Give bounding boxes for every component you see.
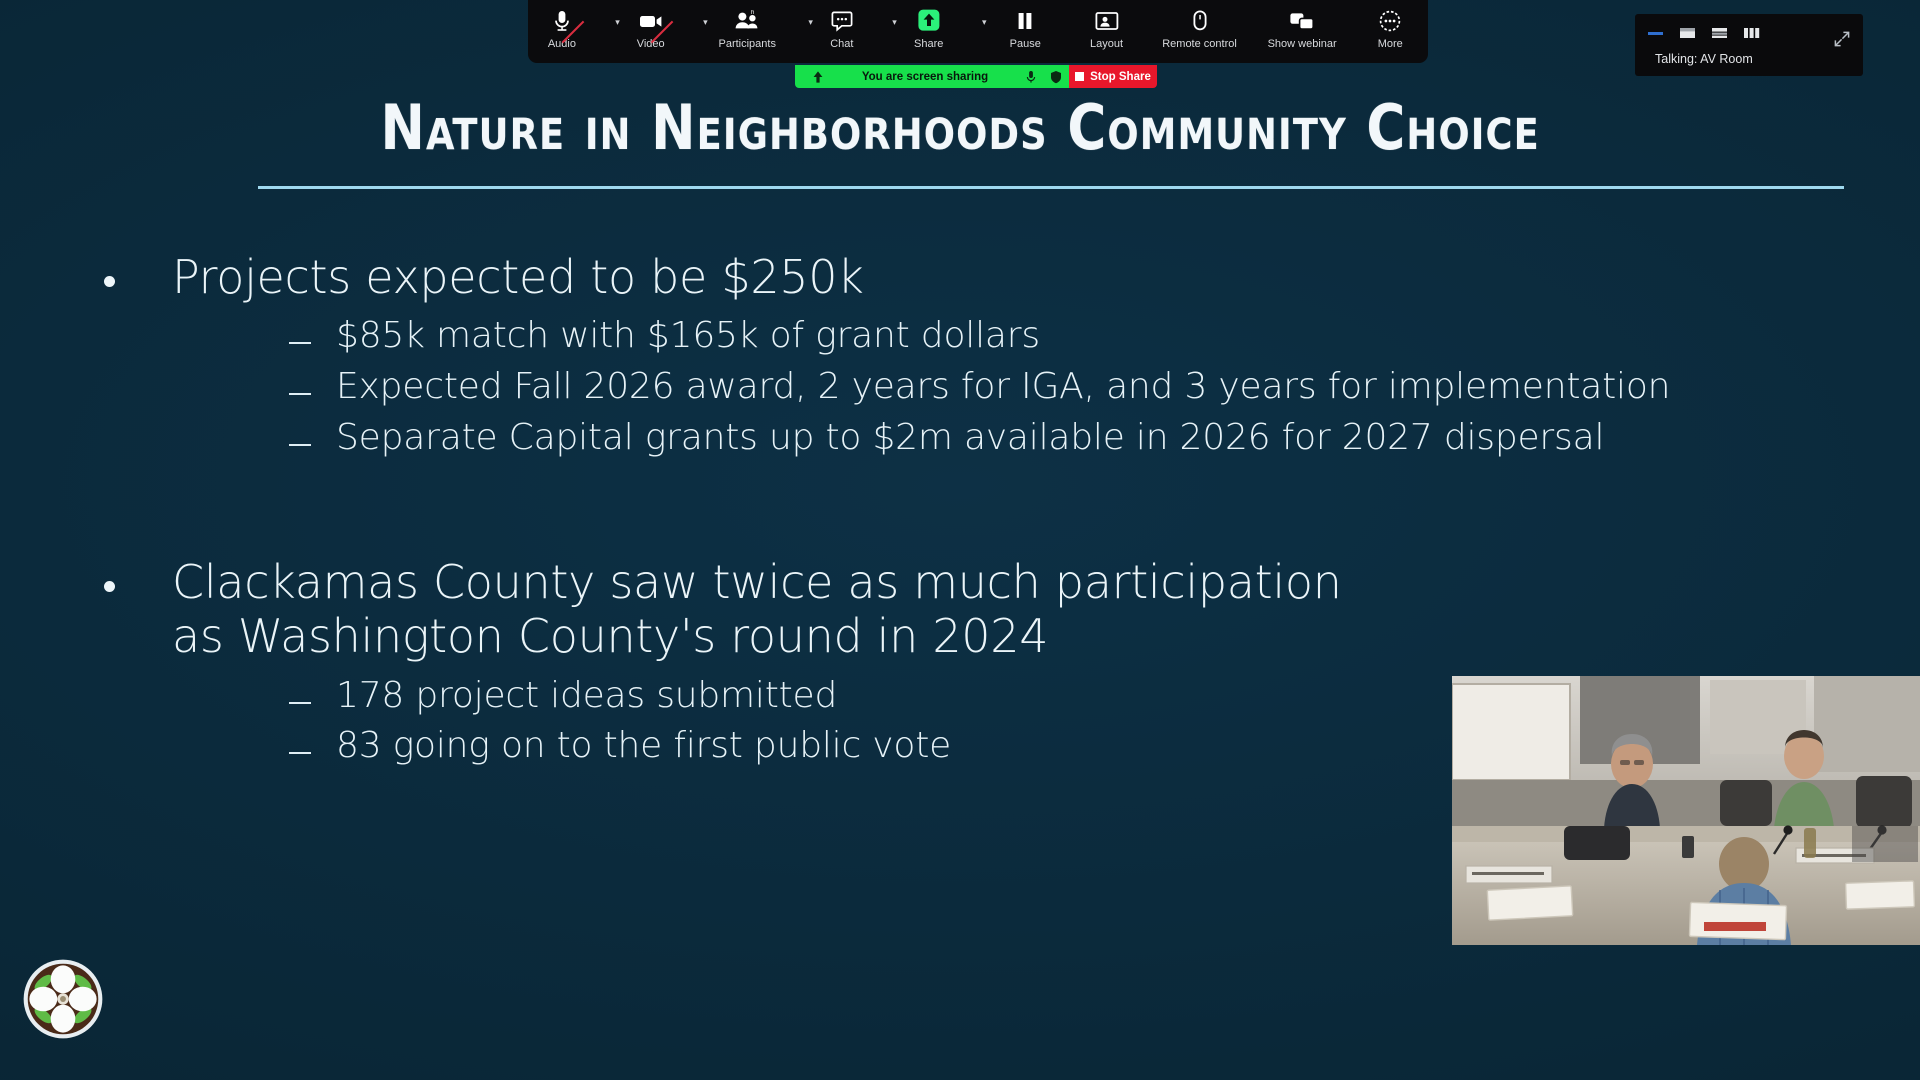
- sub-bullet-text: Expected Fall 2026 award, 2 years for IG…: [336, 365, 1670, 409]
- shield-icon[interactable]: [1050, 70, 1062, 84]
- layout-icon: [1094, 7, 1120, 34]
- sub-bullet-text: 83 going on to the first public vote: [336, 724, 951, 768]
- sub-bullet-item: Expected Fall 2026 award, 2 years for IG…: [289, 365, 1824, 409]
- dash-icon: [289, 752, 311, 754]
- microphone-icon[interactable]: [1026, 70, 1036, 84]
- sub-bullet-text: $85k match with $165k of grant dollars: [336, 314, 1040, 358]
- participant-video-panel: Talking: AV Room: [1635, 14, 1863, 76]
- chat-icon: [830, 7, 854, 34]
- toolbar-button-chat[interactable]: Chat ▾: [811, 0, 895, 63]
- toolbar-button-layout[interactable]: Layout: [1066, 0, 1147, 63]
- stop-square-icon: [1075, 72, 1084, 81]
- bullet-dot-icon: [104, 581, 115, 592]
- webinar-window-icon: [1288, 7, 1316, 34]
- share-status-text: You are screen sharing: [831, 71, 1019, 83]
- svg-text:h: h: [751, 10, 754, 16]
- view-mode-controls: [1647, 26, 1761, 45]
- toolbar-label: Layout: [1090, 38, 1123, 50]
- conference-room-video-feed[interactable]: [1452, 676, 1920, 945]
- single-view-icon[interactable]: [1679, 26, 1697, 45]
- more-dots-icon: [1378, 7, 1402, 34]
- bullet-text: Projects expected to be $250k: [172, 250, 864, 304]
- toolbar-label: Chat: [830, 38, 853, 50]
- dash-icon: [289, 444, 311, 446]
- bullet-spacer: [104, 467, 1824, 555]
- microphone-muted-icon: [552, 7, 572, 34]
- bullet-text: Clackamas County saw twice as much parti…: [172, 555, 1392, 664]
- toolbar-label: Participants: [718, 38, 775, 50]
- toolbar-label: Pause: [1010, 38, 1041, 50]
- page-title: Nature in Neighborhoods Community Choice: [380, 96, 1539, 160]
- toolbar-button-pause[interactable]: Pause: [985, 0, 1066, 63]
- participants-icon: h: [734, 7, 760, 34]
- zoom-meeting-toolbar: Audio ▾ Video ▾ h Participants ▾: [528, 0, 1428, 63]
- pause-icon: [1015, 7, 1035, 34]
- toolbar-label: Share: [914, 38, 943, 50]
- toolbar-button-participants[interactable]: h Participants ▾: [706, 0, 811, 63]
- bullet-dot-icon: [104, 276, 115, 287]
- screen-share-status-bar: You are screen sharing Stop Share: [795, 65, 1157, 88]
- toolbar-label: Show webinar: [1268, 38, 1337, 50]
- talking-label: Talking: AV Room: [1655, 52, 1753, 66]
- sub-bullet-item: Separate Capital grants up to $2m availa…: [289, 416, 1824, 460]
- dash-icon: [289, 393, 311, 395]
- toolbar-button-video[interactable]: Video ▾: [618, 0, 706, 63]
- dogwood-flower-logo: [22, 958, 104, 1040]
- mouse-icon: [1190, 7, 1210, 34]
- toolbar-button-show-webinar[interactable]: Show webinar: [1252, 0, 1353, 63]
- toolbar-label: Video: [637, 38, 665, 50]
- sub-bullet-item: $85k match with $165k of grant dollars: [289, 314, 1824, 358]
- toolbar-button-more[interactable]: More: [1352, 0, 1428, 63]
- bullet-item: Projects expected to be $250k: [104, 250, 1824, 304]
- bullet-item: Clackamas County saw twice as much parti…: [104, 555, 1824, 664]
- share-status-banner: You are screen sharing: [795, 65, 1069, 88]
- grid-view-icon[interactable]: [1743, 26, 1761, 45]
- toolbar-label: Remote control: [1162, 38, 1237, 50]
- toolbar-button-audio[interactable]: Audio ▾: [528, 0, 618, 63]
- dash-icon: [289, 342, 311, 344]
- toolbar-button-remote-control[interactable]: Remote control: [1147, 0, 1252, 63]
- toolbar-label: More: [1378, 38, 1403, 50]
- sub-bullet-list: $85k match with $165k of grant dollars E…: [289, 314, 1824, 460]
- camera-muted-icon: [638, 7, 664, 34]
- title-underline-rule: [258, 186, 1844, 189]
- stacked-view-icon[interactable]: [1711, 26, 1729, 45]
- sub-bullet-text: 178 project ideas submitted: [336, 674, 837, 718]
- share-arrow-icon: [812, 70, 824, 84]
- stop-share-button[interactable]: Stop Share: [1069, 65, 1157, 88]
- stop-share-label: Stop Share: [1090, 71, 1151, 83]
- slide-title-container: Nature in Neighborhoods Community Choice: [0, 96, 1920, 160]
- expand-icon[interactable]: [1833, 30, 1851, 53]
- minimize-icon[interactable]: [1647, 26, 1665, 45]
- share-screen-icon: [915, 7, 943, 34]
- toolbar-button-share[interactable]: Share ▾: [895, 0, 985, 63]
- sub-bullet-text: Separate Capital grants up to $2m availa…: [336, 416, 1604, 460]
- dash-icon: [289, 702, 311, 704]
